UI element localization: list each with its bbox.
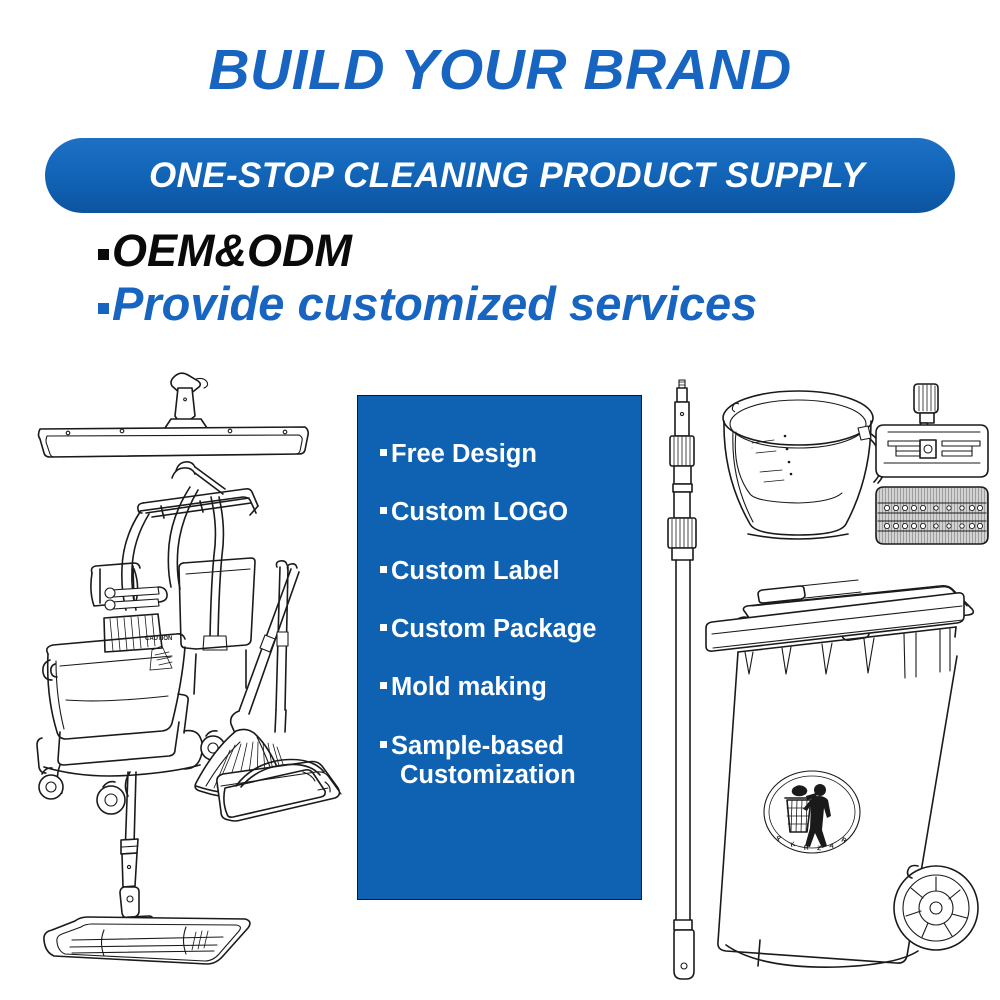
feature-label: Free Design bbox=[391, 440, 537, 469]
svg-text:Z: Z bbox=[817, 845, 822, 852]
square-bullet-icon bbox=[98, 249, 109, 260]
mop-frame-illustration bbox=[876, 384, 988, 477]
square-bullet-icon bbox=[380, 624, 387, 631]
feature-item-free-design: Free Design bbox=[380, 440, 635, 469]
top-bullet-services: Provide customized services bbox=[98, 280, 958, 329]
svg-text:A: A bbox=[828, 842, 835, 850]
bin-badge-lettering: P K R Z A R bbox=[776, 834, 848, 852]
feature-item-custom-label: Custom Label bbox=[380, 557, 635, 586]
svg-text:R: R bbox=[804, 845, 809, 852]
floor-squeegee-illustration bbox=[39, 373, 309, 457]
wheelie-bin-illustration: P K R Z A R bbox=[706, 580, 978, 967]
feature-label: Custom Package bbox=[391, 615, 597, 644]
square-bullet-icon bbox=[380, 566, 387, 573]
top-bullet-list: OEM&ODM Provide customized services bbox=[98, 228, 958, 329]
top-bullet-label: Provide customized services bbox=[112, 280, 757, 329]
feature-label: Mold making bbox=[391, 673, 547, 702]
svg-text:K: K bbox=[790, 841, 796, 849]
banner-pill: ONE-STOP CLEANING PRODUCT SUPPLY bbox=[45, 138, 955, 213]
page-title: BUILD YOUR BRAND bbox=[0, 42, 1000, 99]
feature-item-mold-making: Mold making bbox=[380, 673, 635, 702]
feature-panel: Free Design Custom LOGO Custom Label Cus… bbox=[357, 395, 642, 900]
feature-item-custom-package: Custom Package bbox=[380, 615, 635, 644]
feature-list: Free Design Custom LOGO Custom Label Cus… bbox=[380, 440, 635, 790]
square-bullet-icon bbox=[380, 449, 387, 456]
feature-label-line2: Customization bbox=[391, 761, 576, 790]
square-bullet-icon bbox=[380, 741, 387, 748]
feature-item-sample-based-customization: Sample-based Customization bbox=[380, 732, 635, 791]
top-bullet-oem: OEM&ODM bbox=[98, 228, 958, 275]
feature-label: Custom Label bbox=[391, 557, 560, 586]
feature-item-custom-logo: Custom LOGO bbox=[380, 498, 635, 527]
telescopic-pole-illustration bbox=[668, 380, 696, 979]
svg-text:P: P bbox=[776, 834, 783, 842]
bucket-illustration bbox=[723, 391, 886, 539]
feature-label: Sample-based bbox=[391, 732, 576, 761]
square-bullet-icon bbox=[98, 303, 109, 314]
dustpan-illustration bbox=[217, 561, 341, 821]
top-bullet-label: OEM&ODM bbox=[112, 228, 352, 275]
svg-text:R: R bbox=[840, 837, 848, 845]
square-bullet-icon bbox=[380, 507, 387, 514]
mop-pad-illustration bbox=[876, 487, 988, 544]
square-bullet-icon bbox=[380, 682, 387, 689]
caution-label: CAUTION bbox=[145, 636, 172, 642]
banner-title: ONE-STOP CLEANING PRODUCT SUPPLY bbox=[45, 138, 955, 213]
mop-wringer-trolley-illustration: CAUTION bbox=[37, 462, 258, 814]
feature-label: Custom LOGO bbox=[391, 498, 568, 527]
broom-illustration bbox=[195, 564, 299, 798]
flat-mop-illustration bbox=[44, 772, 250, 964]
poster-canvas: BUILD YOUR BRAND ONE-STOP CLEANING PRODU… bbox=[0, 0, 1000, 1000]
